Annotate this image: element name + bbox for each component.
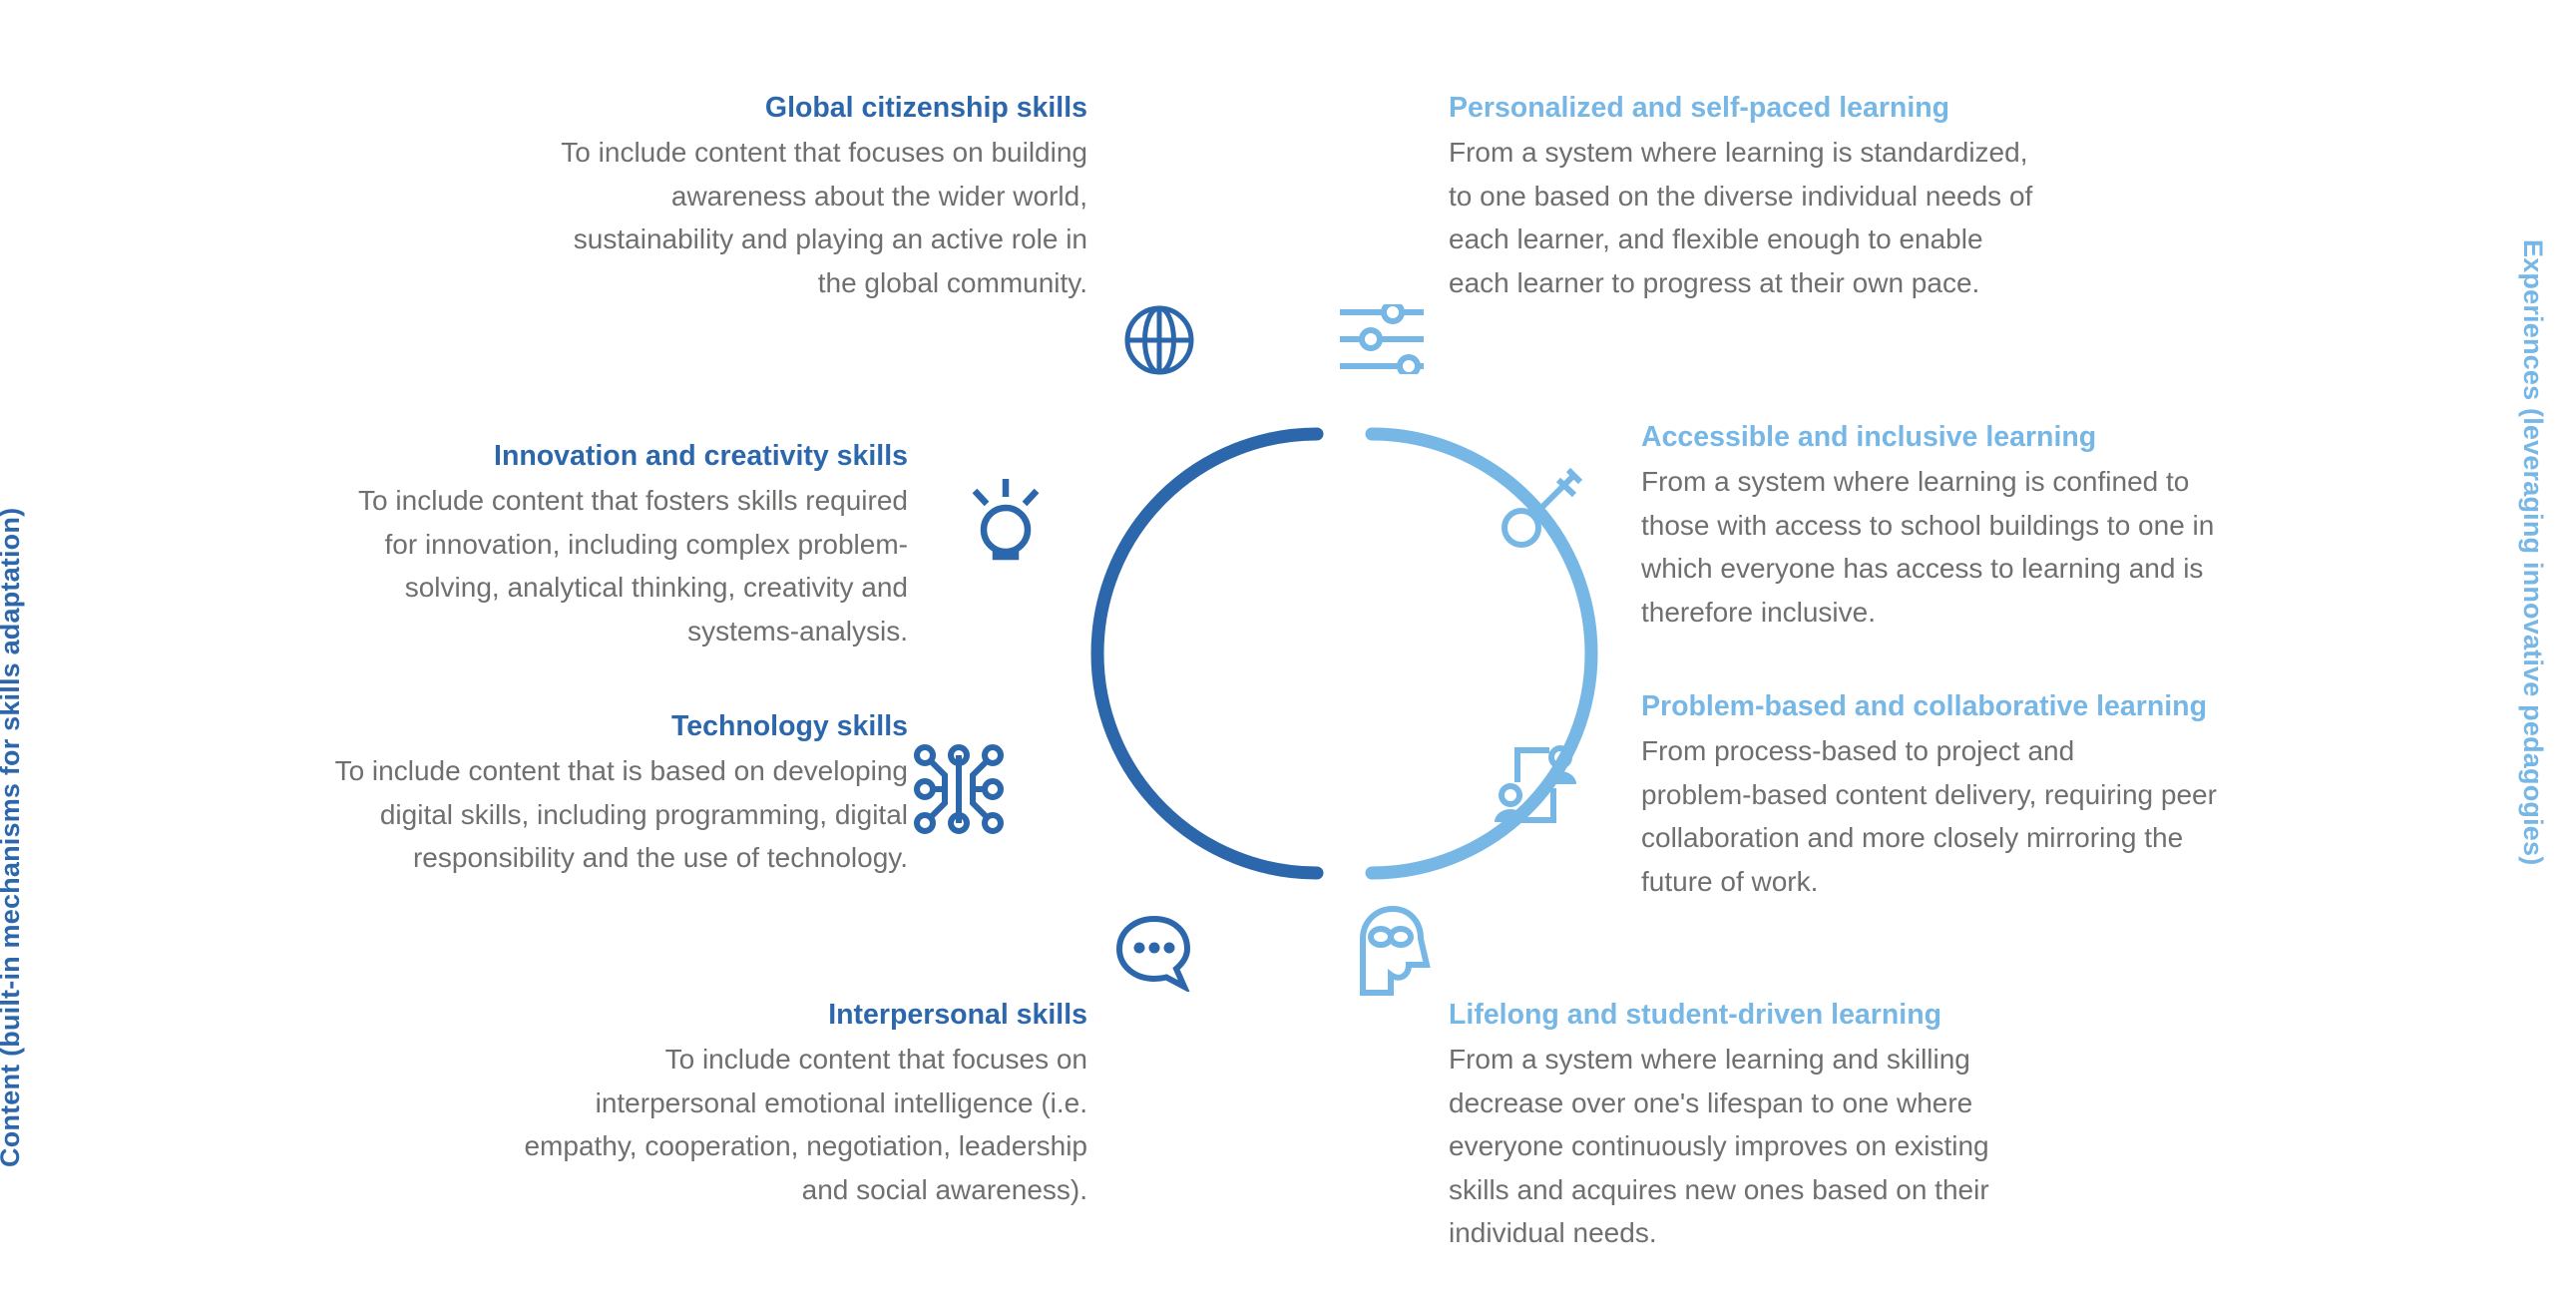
pillar-heading: Problem-based and collaborative learning [1641, 686, 2439, 726]
pillar-problem-based-and-collaborative-learning: Problem-based and collaborative learning… [1641, 686, 2439, 903]
pillar-innovation-and-creativity-skills: Innovation and creativity skills To incl… [200, 436, 908, 652]
pillar-heading: Accessible and inclusive learning [1641, 417, 2439, 457]
axis-label-experiences: Experiences (leveraging innovative pedag… [2486, 0, 2548, 1297]
pillar-accessible-and-inclusive-learning: Accessible and inclusive learning From a… [1641, 417, 2439, 634]
axis-label-content-text: Content (built-in mechanisms for skills … [0, 508, 26, 1167]
axis-label-experiences-text: Experiences (leveraging innovative pedag… [2517, 239, 2548, 865]
pillar-heading: Innovation and creativity skills [200, 436, 908, 476]
circuit-icon [913, 743, 1005, 840]
pillar-body: To include content that focuses on inter… [354, 1038, 1087, 1211]
axis-label-content: Content (built-in mechanisms for skills … [26, 0, 88, 1297]
lightbulb-icon [966, 475, 1046, 566]
pillar-technology-skills: Technology skills To include content tha… [175, 706, 908, 880]
pillar-heading: Interpersonal skills [354, 995, 1087, 1035]
key-icon [1501, 467, 1582, 554]
pillar-interpersonal-skills: Interpersonal skills To include content … [354, 995, 1087, 1211]
infographic-canvas: Content (built-in mechanisms for skills … [0, 0, 2576, 1297]
pillar-global-citizenship-skills: Global citizenship skills To include con… [379, 88, 1087, 304]
pillar-heading: Personalized and self-paced learning [1449, 88, 2247, 128]
pillar-body: From a system where learning and skillin… [1449, 1038, 2247, 1255]
arc-content-half [1097, 434, 1317, 873]
globe-icon [1121, 302, 1197, 383]
split-circle-graphic [1018, 269, 1576, 1048]
pillar-heading: Technology skills [175, 706, 908, 746]
pillar-body: To include content that focuses on build… [379, 131, 1087, 304]
chat-bubble-icon [1113, 914, 1195, 997]
head-infinity-icon [1353, 905, 1431, 1002]
pillar-body: From a system where learning is confined… [1641, 460, 2439, 634]
collaboration-icon [1493, 740, 1578, 835]
sliders-icon [1337, 304, 1427, 379]
pillar-body: From process-based to project and proble… [1641, 729, 2439, 903]
pillar-heading: Global citizenship skills [379, 88, 1087, 128]
pillar-body: To include content that is based on deve… [175, 749, 908, 880]
pillar-body: To include content that fosters skills r… [200, 479, 908, 652]
